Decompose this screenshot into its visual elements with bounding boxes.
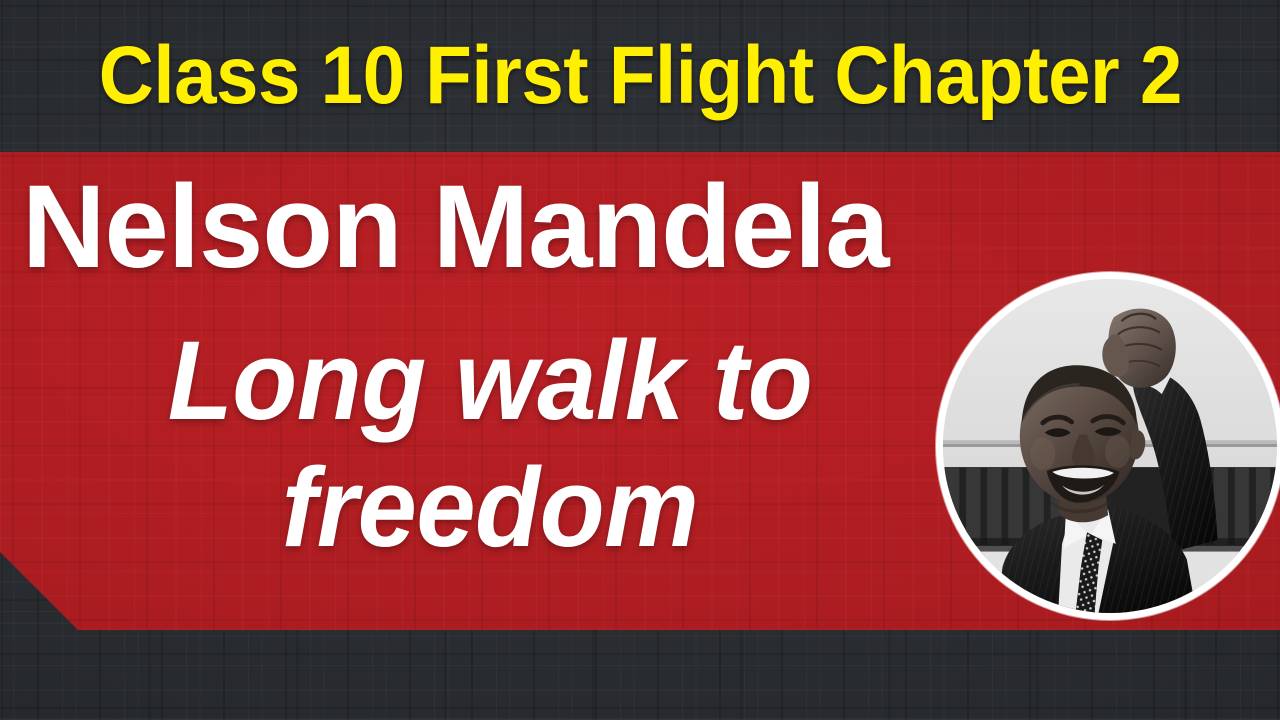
- subtitle-line-1: Long walk to: [168, 318, 813, 443]
- slide-canvas: Class 10 First Flight Chapter 2 Nelson M…: [0, 0, 1280, 720]
- chapter-heading: Class 10 First Flight Chapter 2: [98, 35, 1181, 117]
- subtitle-line-2: freedom: [25, 445, 956, 572]
- heading-band: Class 10 First Flight Chapter 2: [0, 0, 1280, 152]
- mandela-portrait-illustration: [943, 279, 1277, 613]
- portrait-frame: [936, 272, 1280, 620]
- page-subtitle: Long walk to freedom: [25, 318, 956, 571]
- page-title: Nelson Mandela: [22, 168, 1012, 286]
- mandela-portrait-photo: [943, 279, 1277, 613]
